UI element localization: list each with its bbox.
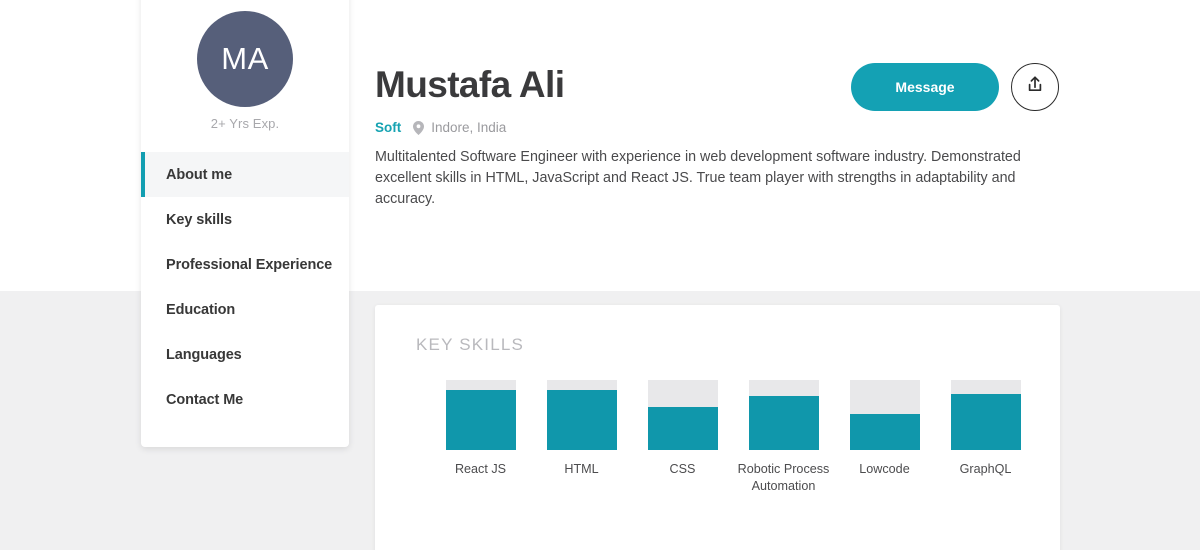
- key-skills-card: KEY SKILLS React JS HTML CSS: [375, 305, 1060, 550]
- sidebar-item-label: Languages: [166, 347, 242, 363]
- page-title: Mustafa Ali: [375, 64, 564, 106]
- skill-gauge-fill: [446, 390, 516, 450]
- skill-label: Lowcode: [859, 461, 909, 478]
- sidebar-item-education[interactable]: Education: [141, 287, 349, 332]
- skill-gauge: [749, 380, 819, 450]
- skill-item: React JS: [430, 380, 531, 495]
- skill-label: CSS: [670, 461, 696, 478]
- profile-meta: Soft Indore, India: [375, 120, 506, 135]
- sidebar-item-label: Professional Experience: [166, 257, 332, 273]
- status-badge: Soft: [375, 120, 401, 135]
- skill-item: Lowcode: [834, 380, 935, 495]
- map-pin-icon: [413, 121, 424, 135]
- key-skills-chart: React JS HTML CSS Robotic Process Automa…: [430, 380, 1036, 495]
- message-button[interactable]: Message: [851, 63, 999, 111]
- skill-item: HTML: [531, 380, 632, 495]
- skill-gauge: [850, 380, 920, 450]
- key-skills-title: KEY SKILLS: [416, 335, 524, 355]
- sidebar-item-languages[interactable]: Languages: [141, 332, 349, 377]
- share-button[interactable]: [1011, 63, 1059, 111]
- skill-label: React JS: [455, 461, 506, 478]
- sidebar-item-label: About me: [166, 167, 232, 183]
- sidebar-item-about-me[interactable]: About me: [141, 152, 349, 197]
- skill-label: GraphQL: [960, 461, 1012, 478]
- sidebar-nav: About me Key skills Professional Experie…: [141, 152, 349, 422]
- skill-gauge: [547, 380, 617, 450]
- profile-header: Mustafa Ali Soft Indore, India Multitale…: [375, 0, 1075, 291]
- skill-label: Robotic Process Automation: [733, 461, 834, 495]
- profile-page: MA 2+ Yrs Exp. About me Key skills Profe…: [0, 0, 1200, 550]
- sidebar-item-key-skills[interactable]: Key skills: [141, 197, 349, 242]
- skill-item: GraphQL: [935, 380, 1036, 495]
- profile-bio: Multitalented Software Engineer with exp…: [375, 147, 1060, 210]
- sidebar-item-label: Education: [166, 302, 235, 318]
- skill-gauge: [648, 380, 718, 450]
- location-label: Indore, India: [431, 120, 506, 135]
- skill-item: Robotic Process Automation: [733, 380, 834, 495]
- sidebar-item-label: Contact Me: [166, 392, 243, 408]
- sidebar-card: MA 2+ Yrs Exp. About me Key skills Profe…: [141, 0, 349, 447]
- sidebar-item-professional-experience[interactable]: Professional Experience: [141, 242, 349, 287]
- skill-item: CSS: [632, 380, 733, 495]
- skill-gauge-fill: [850, 414, 920, 450]
- experience-label: 2+ Yrs Exp.: [211, 116, 279, 131]
- avatar: MA: [197, 11, 293, 107]
- skill-gauge-fill: [547, 390, 617, 450]
- sidebar-item-contact-me[interactable]: Contact Me: [141, 377, 349, 422]
- skill-gauge: [446, 380, 516, 450]
- profile-summary: MA 2+ Yrs Exp.: [141, 0, 349, 131]
- skill-gauge-fill: [749, 396, 819, 450]
- skill-label: HTML: [564, 461, 598, 478]
- share-upload-icon: [1025, 75, 1045, 100]
- skill-gauge-fill: [648, 407, 718, 450]
- skill-gauge-fill: [951, 394, 1021, 450]
- sidebar-item-label: Key skills: [166, 212, 232, 228]
- skill-gauge: [951, 380, 1021, 450]
